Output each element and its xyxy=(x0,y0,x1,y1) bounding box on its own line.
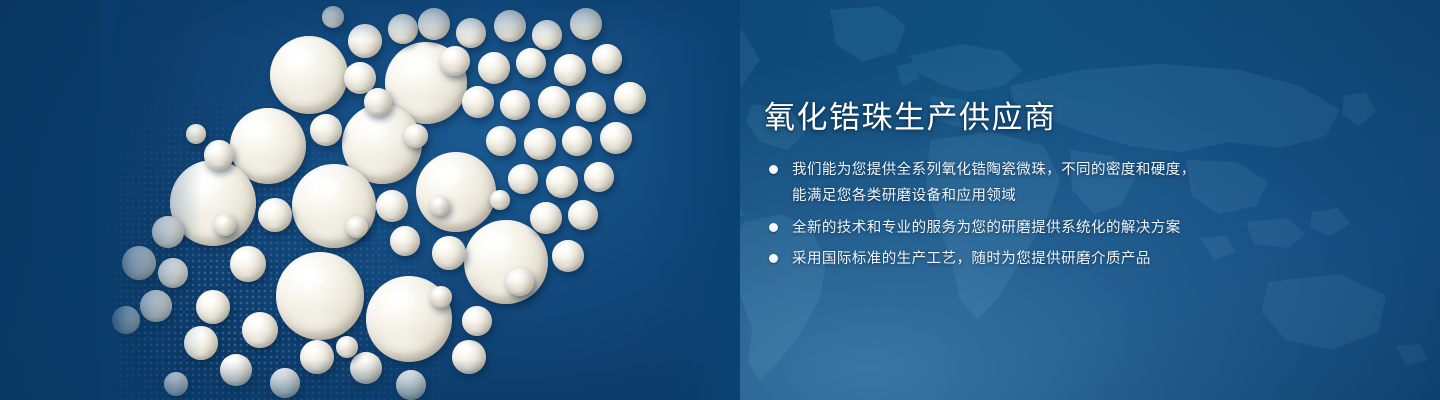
feature-list-item: 全新的技术和专业的服务为您的研磨提供系统化的解决方案 xyxy=(762,217,1382,239)
bead-medium xyxy=(388,14,418,44)
bead-medium xyxy=(230,246,266,282)
bead-medium xyxy=(376,190,408,222)
bead-medium xyxy=(508,164,538,194)
bead-cluster xyxy=(100,0,740,400)
bead-medium xyxy=(552,240,584,272)
feature-text-line: 能满足您各类研磨设备和应用领域 xyxy=(792,185,1382,207)
bead-medium xyxy=(584,162,614,192)
bead-small xyxy=(186,124,206,144)
bead-medium xyxy=(506,268,534,296)
bead-medium xyxy=(456,18,486,48)
bead-medium xyxy=(462,306,492,336)
bead-medium xyxy=(364,88,392,116)
bead-small xyxy=(404,124,428,148)
product-photo-zirconia-beads xyxy=(100,0,740,400)
bead-medium xyxy=(538,86,570,118)
bullet-dot-icon xyxy=(769,165,778,174)
bead-medium xyxy=(122,246,156,280)
bead-medium xyxy=(242,312,278,348)
bead-medium xyxy=(396,370,426,400)
bead-large xyxy=(276,252,364,340)
bead-medium xyxy=(600,122,632,154)
bead-small xyxy=(490,190,510,210)
bead-medium xyxy=(530,202,562,234)
bullet-dot-icon xyxy=(769,223,778,232)
bead-medium xyxy=(348,24,382,58)
feature-text-line: 全新的技术和专业的服务为您的研磨提供系统化的解决方案 xyxy=(792,217,1382,239)
bead-small xyxy=(346,216,368,238)
bead-medium xyxy=(576,92,606,122)
bead-medium xyxy=(258,198,292,232)
bead-small xyxy=(430,286,452,308)
bead-medium xyxy=(524,128,556,160)
bead-medium xyxy=(554,54,586,86)
bead-medium xyxy=(270,368,300,398)
feature-list-item: 我们能为您提供全系列氧化锆陶瓷微珠，不同的密度和硬度， 能满足您各类研磨设备和应… xyxy=(762,159,1382,208)
bead-large xyxy=(416,152,496,232)
bead-medium xyxy=(478,52,510,84)
bead-medium xyxy=(568,200,598,230)
bead-medium xyxy=(516,48,546,78)
bead-medium xyxy=(196,290,230,324)
bead-medium xyxy=(152,216,184,248)
bead-medium xyxy=(204,140,234,170)
feature-list-item: 采用国际标准的生产工艺，随时为您提供研磨介质产品 xyxy=(762,248,1382,270)
bead-small xyxy=(430,196,450,216)
bead-medium xyxy=(494,10,526,42)
bead-medium xyxy=(310,114,342,146)
bead-medium xyxy=(500,90,530,120)
bead-medium xyxy=(418,8,450,40)
bead-large xyxy=(464,220,548,304)
banner-headline: 氧化锆珠生产供应商 xyxy=(764,100,1382,137)
bead-medium xyxy=(158,258,188,288)
bead-medium xyxy=(112,306,140,334)
bead-medium xyxy=(220,354,252,386)
bead-medium xyxy=(140,290,172,322)
bead-small xyxy=(214,214,236,236)
feature-text-line: 我们能为您提供全系列氧化锆陶瓷微珠，不同的密度和硬度， xyxy=(792,159,1382,181)
bead-medium xyxy=(532,20,562,50)
bead-medium xyxy=(184,326,218,360)
bead-medium xyxy=(570,8,602,40)
bead-medium xyxy=(562,126,592,156)
hero-banner: 氧化锆珠生产供应商 我们能为您提供全系列氧化锆陶瓷微珠，不同的密度和硬度， 能满… xyxy=(0,0,1440,400)
banner-content: 氧化锆珠生产供应商 我们能为您提供全系列氧化锆陶瓷微珠，不同的密度和硬度， 能满… xyxy=(762,100,1382,279)
bead-medium xyxy=(432,236,466,270)
bead-medium xyxy=(614,82,646,114)
feature-text-line: 采用国际标准的生产工艺，随时为您提供研磨介质产品 xyxy=(792,248,1382,270)
bead-small xyxy=(322,6,344,28)
bead-small xyxy=(336,336,358,358)
feature-list: 我们能为您提供全系列氧化锆陶瓷微珠，不同的密度和硬度， 能满足您各类研磨设备和应… xyxy=(762,159,1382,271)
bead-medium xyxy=(546,166,578,198)
bead-large xyxy=(270,36,348,114)
bead-medium xyxy=(300,340,334,374)
bead-medium xyxy=(350,352,382,384)
bead-medium xyxy=(462,86,494,118)
bead-medium xyxy=(390,226,420,256)
bead-medium xyxy=(486,126,516,156)
bead-medium xyxy=(452,340,486,374)
bead-medium xyxy=(440,46,470,76)
bead-small xyxy=(164,372,188,396)
bullet-dot-icon xyxy=(769,254,778,263)
bead-medium xyxy=(592,44,622,74)
